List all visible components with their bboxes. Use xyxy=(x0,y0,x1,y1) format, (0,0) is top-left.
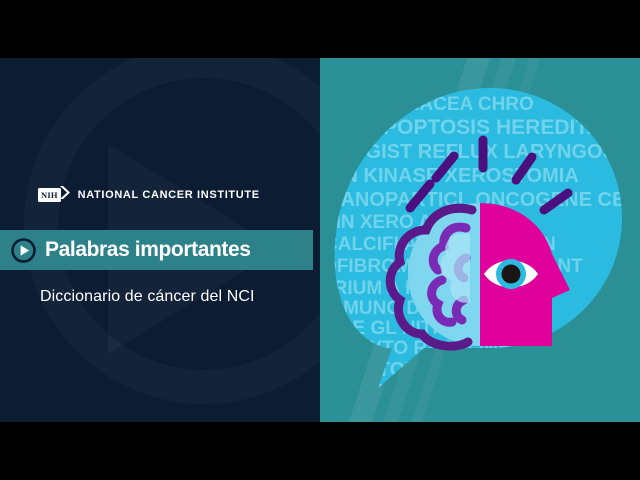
page-title: Palabras importantes xyxy=(45,238,251,262)
title-band: Palabras importantes xyxy=(0,230,313,270)
word-cloud-line: ERIC SARCOID xyxy=(334,401,480,422)
word-cloud-line: IN KINASE XEROSTOMIA xyxy=(338,165,579,187)
nih-mark-text: NIH xyxy=(38,188,61,202)
nci-wordmark: NATIONAL CANCER INSTITUTE xyxy=(78,189,260,201)
speech-bubble-head-brain-eye-illustration: ANACEA CHRO APOPTOSIS HEREDITA OGIST REF… xyxy=(320,58,640,422)
word-cloud-line: URICULAR REFRACTORY xyxy=(320,381,568,403)
nci-brand-lockup: NIH NATIONAL CANCER INSTITUTE xyxy=(38,186,260,204)
word-cloud-line: OGIST REFLUX LARYNGOSCO xyxy=(350,141,640,163)
video-content[interactable]: NIH NATIONAL CANCER INSTITUTE P xyxy=(0,58,640,422)
letterbox-bottom xyxy=(0,422,640,480)
play-circle-icon[interactable] xyxy=(11,238,36,263)
right-illustration-panel: ANACEA CHRO APOPTOSIS HEREDITA OGIST REF… xyxy=(320,58,640,422)
video-player-frame: NIH NATIONAL CANCER INSTITUTE P xyxy=(0,0,640,480)
left-title-panel: NIH NATIONAL CANCER INSTITUTE P xyxy=(0,58,320,422)
word-cloud-line: APOPTOSIS HEREDITA xyxy=(368,116,602,139)
word-cloud-line: EUROTOXICITY JEJUNUM YA xyxy=(320,359,602,381)
letterbox-top xyxy=(0,0,640,58)
nih-logo: NIH xyxy=(38,186,71,204)
chevron-right-icon xyxy=(60,186,71,204)
subtitle: Diccionario de cáncer del NCI xyxy=(40,288,255,306)
word-cloud-line: ANACEA CHRO xyxy=(392,94,534,115)
